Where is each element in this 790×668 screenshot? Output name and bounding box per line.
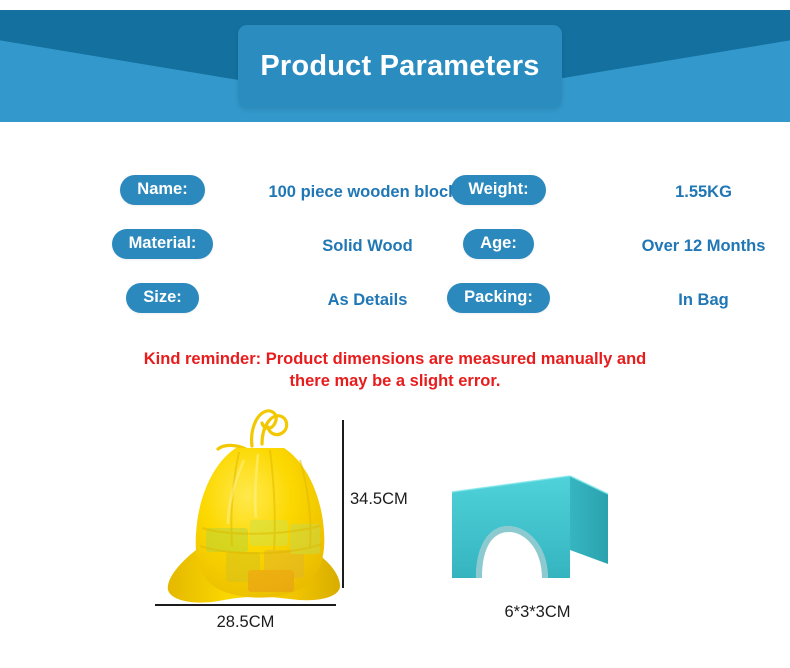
spec-label-material: Material: (112, 229, 214, 259)
spec-value-weight: 1.55KG (601, 168, 790, 216)
spec-label-weight: Weight: (451, 175, 545, 205)
spec-label-wrap: Material: (60, 222, 265, 266)
spec-label-wrap: Age: (396, 222, 601, 266)
spec-label-packing: Packing: (447, 283, 550, 313)
block-figure: 6*3*3CM (430, 460, 710, 640)
spec-row-name: Name: 100 piece wooden blocks (60, 168, 420, 212)
spec-row-material: Material: Solid Wood (60, 222, 420, 266)
spec-value-age: Over 12 Months (601, 222, 790, 270)
bag-drawstring (218, 411, 287, 450)
bag-width-dimension-line (155, 604, 336, 606)
spec-label-wrap: Name: (60, 168, 265, 212)
product-parameters-table: Name: 100 piece wooden blocks Material: … (0, 164, 790, 324)
bag-width-label: 28.5CM (155, 612, 336, 632)
spec-row-weight: Weight: 1.55KG (396, 168, 766, 212)
spec-row-age: Age: Over 12 Months (396, 222, 766, 266)
spec-label-wrap: Packing: (396, 276, 601, 320)
spec-label-wrap: Weight: (396, 168, 601, 212)
reminder-note: Kind reminder: Product dimensions are me… (45, 348, 745, 392)
spec-label-size: Size: (126, 283, 199, 313)
spec-row-packing: Packing: In Bag (396, 276, 766, 320)
block-side-face (570, 476, 608, 564)
page-title-badge: Product Parameters (238, 25, 562, 108)
header-banner: Product Parameters (0, 10, 790, 122)
block-illustration (430, 460, 710, 600)
page-title: Product Parameters (238, 25, 562, 108)
block-dimensions-label: 6*3*3CM (430, 602, 645, 622)
bag-illustration (140, 400, 430, 645)
bag-height-label: 34.5CM (350, 489, 408, 509)
spec-label-name: Name: (120, 175, 204, 205)
spec-label-wrap: Size: (60, 276, 265, 320)
bag-figure: 34.5CM 28.5CM (140, 400, 430, 645)
reminder-line-1: Kind reminder: Product dimensions are me… (45, 348, 745, 370)
bag-height-dimension-line (342, 420, 344, 588)
spec-row-size: Size: As Details (60, 276, 420, 320)
spec-label-age: Age: (463, 229, 534, 259)
product-photo-area: 34.5CM 28.5CM (0, 400, 790, 668)
reminder-line-2: there may be a slight error. (45, 370, 745, 392)
spec-value-packing: In Bag (601, 276, 790, 324)
